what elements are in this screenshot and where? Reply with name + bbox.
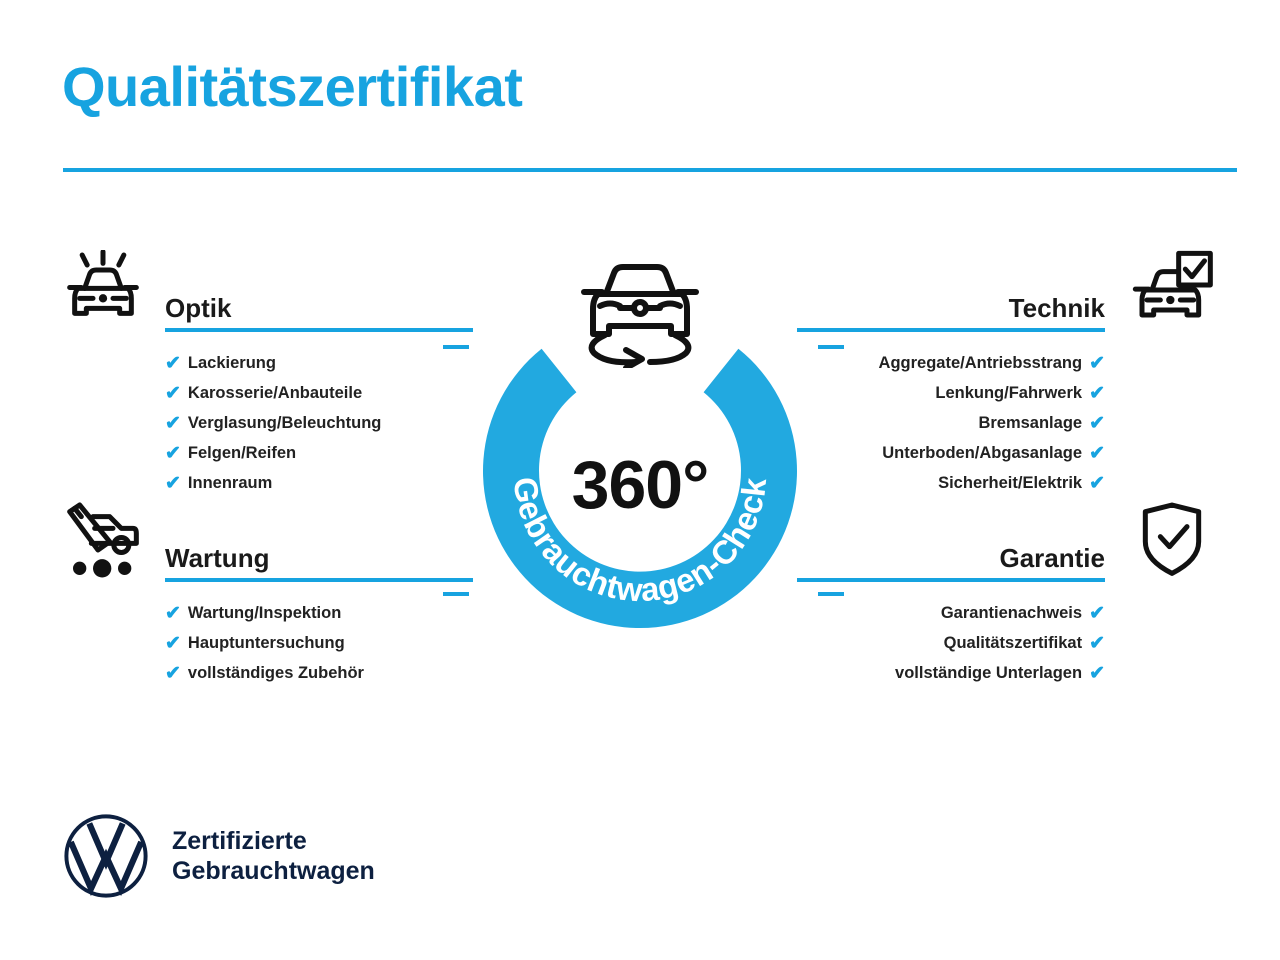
- list-item-label: Lackierung: [188, 348, 276, 378]
- badge-center-label: 360°: [462, 446, 818, 524]
- check-icon: ✔: [165, 354, 181, 373]
- check-icon: ✔: [1089, 354, 1105, 373]
- check-icon: ✔: [165, 664, 181, 683]
- section-title: Technik: [1009, 293, 1105, 324]
- list-item-label: Innenraum: [188, 468, 272, 498]
- list-item: Lenkung/Fahrwerk✔: [795, 378, 1215, 408]
- list-item: Aggregate/Antriebsstrang✔: [795, 348, 1215, 378]
- page-title: Qualitätszertifikat: [62, 58, 522, 117]
- list-item-label: Karosserie/Anbauteile: [188, 378, 362, 408]
- car-front-rotation-icon: [564, 256, 716, 368]
- list-item-label: Felgen/Reifen: [188, 438, 296, 468]
- checklist-optik: ✔Lackierung ✔Karosserie/Anbauteile ✔Verg…: [55, 348, 475, 498]
- check-icon: ✔: [165, 444, 181, 463]
- section-header: Wartung: [55, 508, 475, 590]
- list-item: ✔vollständiges Zubehör: [55, 658, 475, 688]
- section-divider: [165, 328, 473, 332]
- list-item-label: Verglasung/Beleuchtung: [188, 408, 381, 438]
- list-item: Garantienachweis✔: [795, 598, 1215, 628]
- checklist-garantie: Garantienachweis✔ Qualitätszertifikat✔ v…: [795, 598, 1215, 688]
- list-item: ✔Verglasung/Beleuchtung: [55, 408, 475, 438]
- decorative-dash: [818, 345, 844, 349]
- list-item: ✔Karosserie/Anbauteile: [55, 378, 475, 408]
- check-icon: ✔: [1089, 664, 1105, 683]
- checklist-technik: Aggregate/Antriebsstrang✔ Lenkung/Fahrwe…: [795, 348, 1215, 498]
- list-item: ✔Wartung/Inspektion: [55, 598, 475, 628]
- section-header: Technik: [795, 258, 1215, 340]
- section-title: Optik: [165, 293, 231, 324]
- decorative-dash: [818, 592, 844, 596]
- gebrauchtwagen-check-badge: Gebrauchtwagen-Check 360°: [462, 256, 818, 632]
- section-header: Optik: [55, 258, 475, 340]
- list-item: Bremsanlage✔: [795, 408, 1215, 438]
- list-item-label: Qualitätszertifikat: [944, 628, 1082, 658]
- list-item: vollständige Unterlagen✔: [795, 658, 1215, 688]
- list-item-label: Lenkung/Fahrwerk: [935, 378, 1082, 408]
- check-icon: ✔: [165, 384, 181, 403]
- section-title: Wartung: [165, 543, 269, 574]
- list-item: ✔Lackierung: [55, 348, 475, 378]
- list-item-label: Sicherheit/Elektrik: [938, 468, 1082, 498]
- list-item-label: Aggregate/Antriebsstrang: [879, 348, 1083, 378]
- check-icon: ✔: [165, 414, 181, 433]
- check-icon: ✔: [165, 634, 181, 653]
- check-icon: ✔: [1089, 444, 1105, 463]
- list-item: Qualitätszertifikat✔: [795, 628, 1215, 658]
- list-item-label: Hauptuntersuchung: [188, 628, 345, 658]
- title-divider: [63, 168, 1237, 172]
- footer-line-1: Zertifizierte: [172, 826, 375, 856]
- check-icon: ✔: [1089, 604, 1105, 623]
- section-divider: [797, 328, 1105, 332]
- check-icon: ✔: [1089, 634, 1105, 653]
- list-item-label: vollständige Unterlagen: [895, 658, 1082, 688]
- check-icon: ✔: [165, 474, 181, 493]
- section-title: Garantie: [1000, 543, 1106, 574]
- car-front-shine-icon: [60, 250, 146, 330]
- list-item-label: Bremsanlage: [978, 408, 1082, 438]
- section-wartung: Wartung ✔Wartung/Inspektion ✔Hauptunters…: [55, 508, 475, 688]
- list-item: Sicherheit/Elektrik✔: [795, 468, 1215, 498]
- section-technik: Technik Aggregate/Antriebsstrang✔ Lenkun…: [795, 258, 1215, 498]
- section-divider: [797, 578, 1105, 582]
- vw-logo: [62, 812, 150, 900]
- car-front-checkbox-icon: [1129, 250, 1215, 330]
- list-item: ✔Innenraum: [55, 468, 475, 498]
- check-icon: ✔: [1089, 414, 1105, 433]
- shield-check-icon: [1129, 500, 1215, 580]
- list-item: ✔Hauptuntersuchung: [55, 628, 475, 658]
- list-item-label: Unterboden/Abgasanlage: [882, 438, 1082, 468]
- list-item: ✔Felgen/Reifen: [55, 438, 475, 468]
- check-icon: ✔: [1089, 474, 1105, 493]
- section-garantie: Garantie Garantienachweis✔ Qualitätszert…: [795, 508, 1215, 688]
- footer-text: Zertifizierte Gebrauchtwagen: [172, 826, 375, 886]
- list-item-label: Wartung/Inspektion: [188, 598, 341, 628]
- checklist-wartung: ✔Wartung/Inspektion ✔Hauptuntersuchung ✔…: [55, 598, 475, 688]
- footer-line-2: Gebrauchtwagen: [172, 856, 375, 886]
- list-item-label: vollständiges Zubehör: [188, 658, 364, 688]
- check-icon: ✔: [1089, 384, 1105, 403]
- section-optik: Optik ✔Lackierung ✔Karosserie/Anbauteile…: [55, 258, 475, 498]
- section-header: Garantie: [795, 508, 1215, 590]
- check-icon: ✔: [165, 604, 181, 623]
- footer-brand: Zertifizierte Gebrauchtwagen: [62, 812, 375, 900]
- list-item: Unterboden/Abgasanlage✔: [795, 438, 1215, 468]
- section-divider: [165, 578, 473, 582]
- list-item-label: Garantienachweis: [941, 598, 1082, 628]
- pen-car-service-icon: [60, 500, 146, 580]
